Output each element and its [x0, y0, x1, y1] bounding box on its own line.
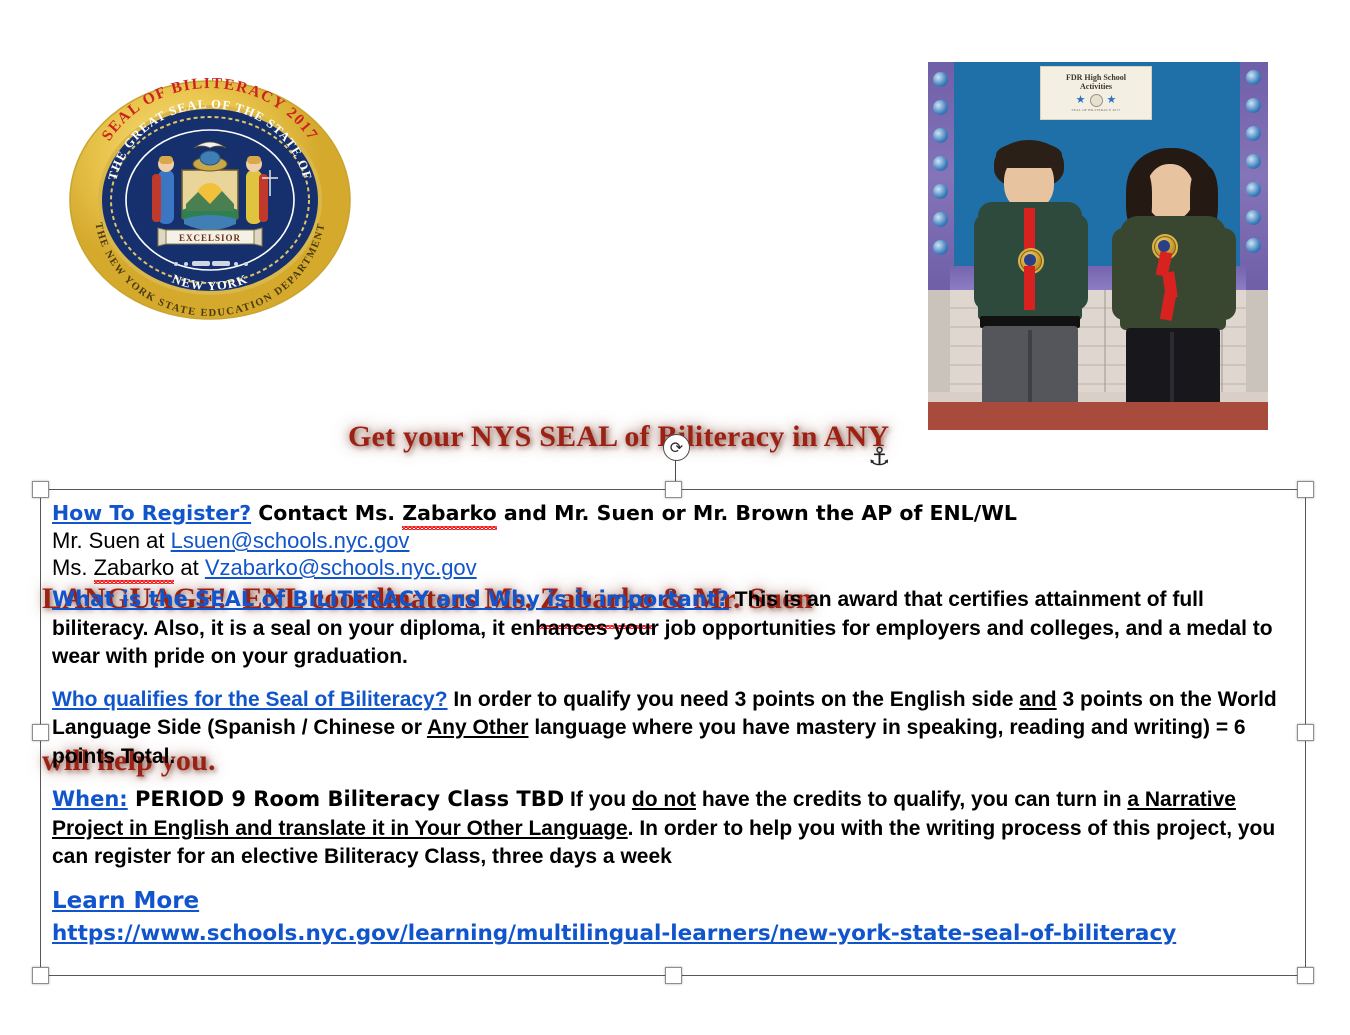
who-text-1: In order to qualify you need 3 points on…	[448, 688, 1020, 711]
who-emphasis-and: and	[1019, 688, 1056, 711]
contact-label-1: Mr. Suen at	[52, 528, 171, 553]
resize-handle-top-right[interactable]	[1297, 481, 1314, 498]
when-detail: PERIOD 9 Room Biliteracy Class TBD	[128, 787, 564, 811]
heading-what-is-seal[interactable]: What is the SEAL of BILITERACY and Why i…	[52, 587, 729, 611]
contact-label-2b: at	[174, 555, 205, 580]
red-floor-mat	[928, 402, 1268, 430]
sign-line-3: SEAL OF BILITERACY 2017	[1072, 109, 1121, 113]
resize-handle-bottom-left[interactable]	[32, 967, 49, 984]
email-link-vzabarko[interactable]: Vzabarko@schools.nyc.gov	[205, 555, 477, 580]
resize-handle-middle-right[interactable]	[1297, 724, 1314, 741]
paragraph-who-qualifies: Who qualifies for the Seal of Biliteracy…	[52, 686, 1292, 772]
contact-label-2a: Ms.	[52, 555, 94, 580]
svg-text:EXCELSIOR: EXCELSIOR	[179, 233, 241, 243]
resize-handle-top-left[interactable]	[32, 481, 49, 498]
spacer	[52, 872, 1292, 886]
register-misspelled-word: Zabarko	[402, 500, 496, 527]
resize-handle-middle-left[interactable]	[32, 724, 49, 741]
resize-handle-bottom-center[interactable]	[665, 967, 682, 984]
anchor-icon: ⚓	[868, 444, 890, 469]
star-icon: ★	[1107, 95, 1117, 106]
flyer-body-text[interactable]: How To Register? Contact Ms. Zabarko and…	[52, 500, 1292, 951]
resize-handle-bottom-right[interactable]	[1297, 967, 1314, 984]
email-link-lsuen[interactable]: Lsuen@schools.nyc.gov	[171, 528, 410, 553]
document-page: SEAL OF BILITERACY 2017 THE NEW YORK STA…	[0, 0, 1350, 1035]
heading-how-to-register[interactable]: How To Register?	[52, 501, 251, 525]
sign-line-2: Activities	[1080, 83, 1112, 91]
spacer	[52, 771, 1292, 785]
paragraph-when: When: PERIOD 9 Room Biliteracy Class TBD…	[52, 785, 1292, 872]
when-emphasis-do-not: do not	[632, 788, 696, 811]
register-text-a: Contact Ms.	[251, 501, 402, 525]
who-emphasis-any-other: Any Other	[427, 716, 529, 739]
paragraph-learn-more: Learn More https://www.schools.nyc.gov/l…	[52, 886, 1292, 951]
resize-handle-top-center[interactable]	[665, 481, 682, 498]
contact-ms-zabarko: Ms. Zabarko at Vzabarko@schools.nyc.gov	[52, 554, 1292, 581]
when-text-2: have the credits to qualify, you can tur…	[696, 788, 1127, 811]
board-border-left	[928, 62, 954, 290]
register-text-b: and Mr. Suen or Mr. Brown the AP of ENL/…	[497, 501, 1017, 525]
paragraph-what-is-seal: What is the SEAL of BILITERACY and Why i…	[52, 585, 1292, 672]
mini-seal-icon	[1090, 94, 1103, 107]
when-text-1: If you	[564, 788, 632, 811]
sign-stars: ★ ★	[1076, 94, 1117, 107]
teacher-figure	[1106, 148, 1242, 402]
heading-when[interactable]: When:	[52, 787, 128, 811]
fdr-activities-sign: FDR High School Activities ★ ★ SEAL OF B…	[1040, 66, 1152, 120]
board-border-right	[1240, 62, 1268, 290]
paragraph-how-to-register: How To Register? Contact Ms. Zabarko and…	[52, 500, 1292, 527]
learn-more-label[interactable]: Learn More	[52, 888, 199, 914]
learn-more-url[interactable]: https://www.schools.nyc.gov/learning/mul…	[52, 921, 1176, 946]
contact-mr-suen: Mr. Suen at Lsuen@schools.nyc.gov	[52, 527, 1292, 554]
sign-line-1: FDR High School	[1066, 74, 1126, 82]
spacer	[52, 672, 1292, 686]
heading-who-qualifies[interactable]: Who qualifies for the Seal of Biliteracy…	[52, 688, 448, 711]
contact-misspelled-word: Zabarko	[94, 554, 175, 581]
rotate-handle-icon[interactable]: ⟳	[663, 434, 690, 461]
headline-line-1: Get your NYS SEAL of Biliteracy in ANY	[42, 410, 902, 464]
students-with-medals-photo[interactable]: FDR High School Activities ★ ★ SEAL OF B…	[928, 62, 1268, 430]
student-figure	[966, 140, 1096, 402]
nys-seal-logo: SEAL OF BILITERACY 2017 THE NEW YORK STA…	[66, 78, 356, 323]
star-icon: ★	[1076, 95, 1086, 106]
